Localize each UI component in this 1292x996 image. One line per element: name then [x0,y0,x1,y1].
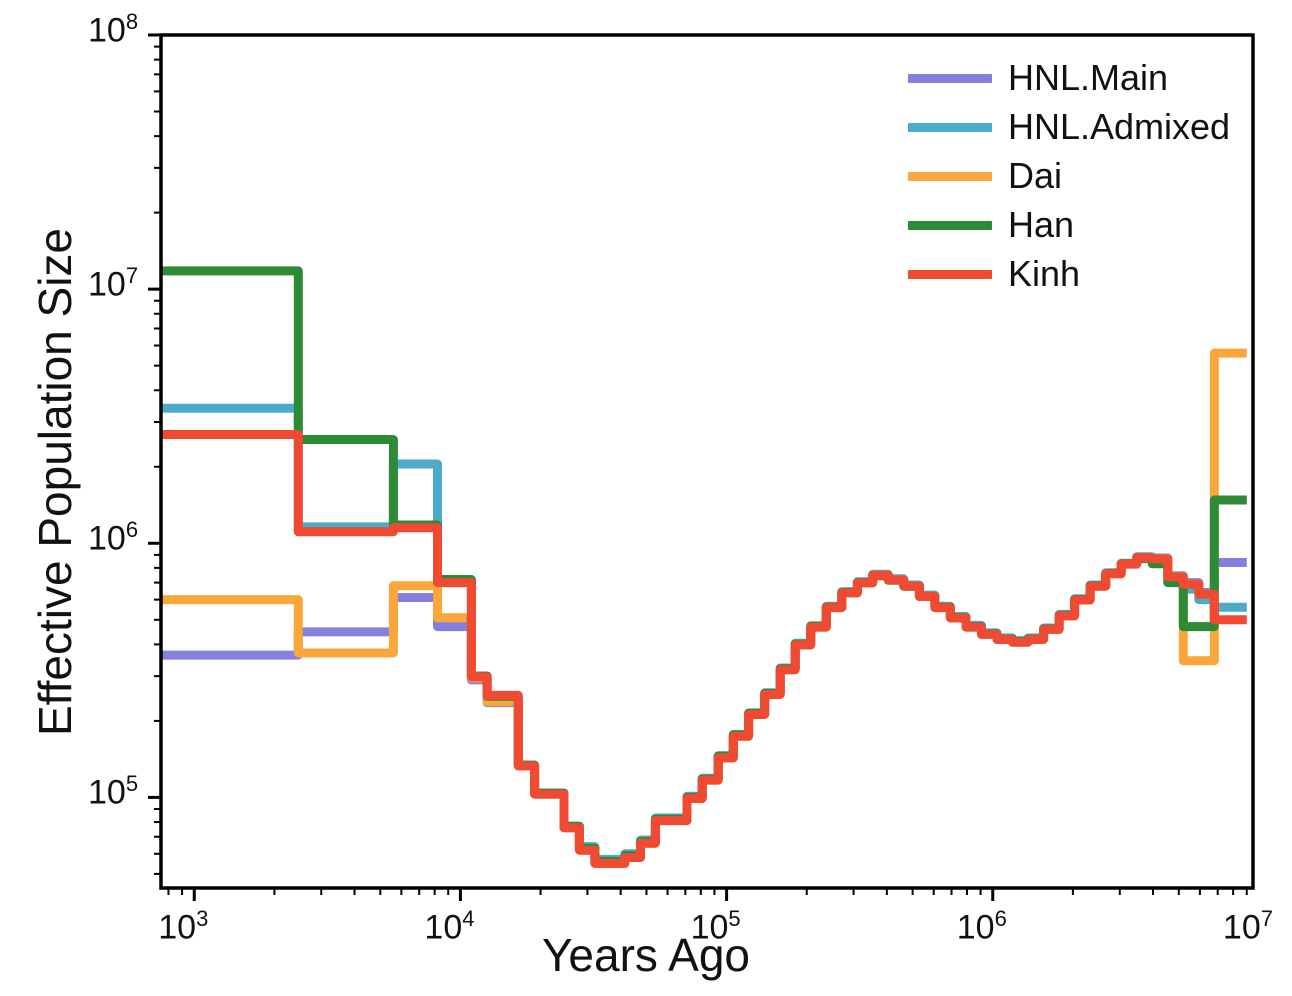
x-tick-label: 107 [1223,906,1273,947]
legend-item: Dai [908,156,1230,196]
legend-label-han: Han [1008,207,1074,243]
y-tick-label: 106 [88,517,138,558]
legend-item: Kinh [908,254,1230,294]
legend-item: Han [908,205,1230,245]
chart-figure: Effective Population Size Years Ago HNL.… [0,0,1292,996]
legend-label-kinh: Kinh [1008,256,1080,292]
y-tick-label: 105 [88,771,138,812]
legend-label-dai: Dai [1008,158,1062,194]
x-tick-label: 105 [691,906,741,947]
series-line-han [161,271,1247,862]
y-tick-label: 107 [88,263,138,304]
y-axis-label: Effective Population Size [28,222,82,742]
x-tick-label: 104 [424,906,474,947]
legend-item: HNL.Admixed [908,107,1230,147]
legend-swatch-han [908,221,992,230]
legend-label-hnl-admixed: HNL.Admixed [1008,109,1230,145]
x-tick-label: 106 [957,906,1007,947]
legend-swatch-dai [908,172,992,181]
legend-item: HNL.Main [908,58,1230,98]
legend-label-hnl-main: HNL.Main [1008,60,1168,96]
legend-swatch-hnl-admixed [908,123,992,132]
x-tick-label: 103 [158,906,208,947]
legend-swatch-kinh [908,270,992,279]
legend-swatch-hnl-main [908,74,992,83]
y-tick-label: 108 [88,9,138,50]
legend: HNL.Main HNL.Admixed Dai Han Kinh [908,58,1230,294]
